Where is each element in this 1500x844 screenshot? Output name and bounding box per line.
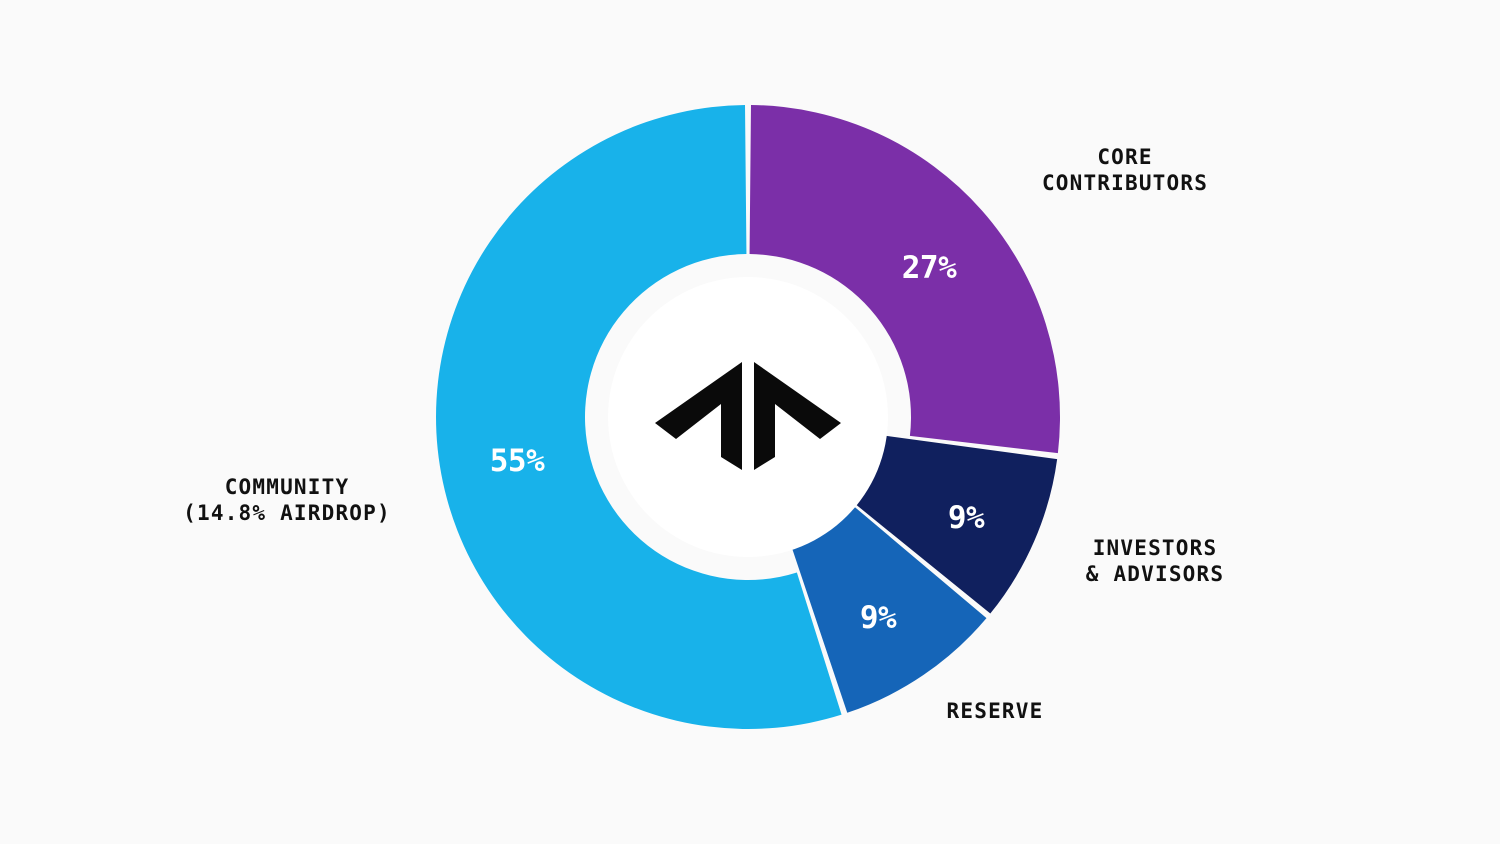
callout-label-investors-advisors: INVESTORS & ADVISORS [1020,535,1290,587]
slice-value-investors-advisors: 9% [948,500,985,536]
slice-value-community: 55% [490,443,545,479]
slice-value-core-contributors: 27% [902,250,957,286]
donut-chart-svg: 27% 9% 9% 55% [0,0,1500,844]
donut-center-hole [608,277,888,557]
callout-label-community: COMMUNITY (14.8% AIRDROP) [152,474,422,526]
callout-label-core-contributors: CORE CONTRIBUTORS [1000,144,1250,196]
donut-chart-container: 27% 9% 9% 55% CORE CONTRIBUTORS INVESTOR… [0,0,1500,844]
callout-label-reserve: RESERVE [900,698,1090,724]
slice-value-reserve: 9% [860,600,897,636]
